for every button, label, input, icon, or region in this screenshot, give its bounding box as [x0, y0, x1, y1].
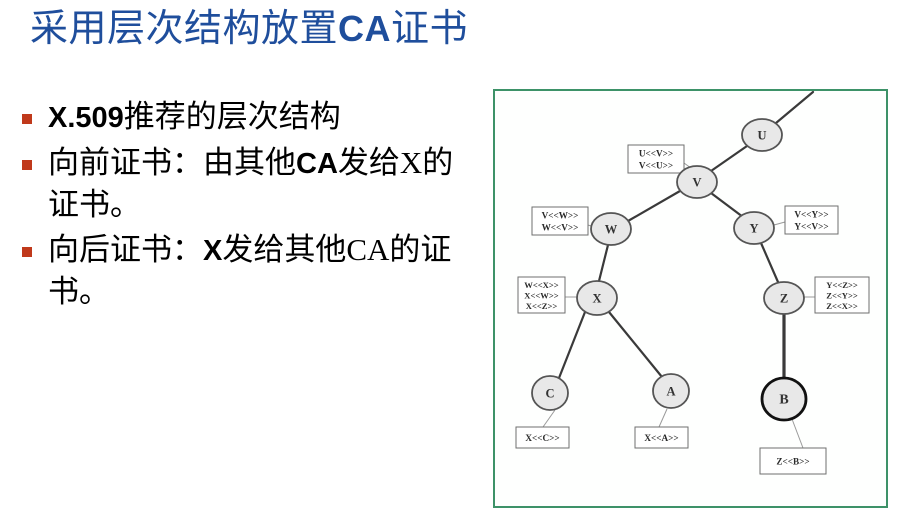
- page-title-part-2: 证书: [391, 8, 468, 50]
- diagram-node-c: C: [532, 376, 568, 410]
- bullet-square-icon: [22, 160, 32, 170]
- label-w: V<<W>>W<<V>>: [532, 207, 588, 235]
- label-box-line: Z<<Y>>: [826, 291, 858, 301]
- diagram-edge: [559, 312, 585, 378]
- label-box-line: W<<X>>: [524, 280, 558, 290]
- bullet-square-icon: [22, 247, 32, 257]
- list-item-text: 推荐的层次结构: [124, 99, 341, 134]
- certificate-hierarchy-diagram: U<<V>>V<<U>>V<<W>>W<<V>>V<<Y>>Y<<V>>W<<X…: [495, 91, 886, 506]
- label-box-line: U<<V>>: [639, 149, 673, 159]
- diagram-edge: [711, 193, 743, 217]
- diagram-edge: [761, 243, 778, 282]
- list-item: 向后证书：X发给其他CA的证书。: [14, 229, 484, 312]
- page-title: 采用层次结构放置CA证书: [30, 6, 500, 54]
- list-item-text-pre: 向前证书：由其他: [48, 145, 296, 180]
- node-label: Y: [749, 222, 758, 236]
- label-y: V<<Y>>Y<<V>>: [785, 206, 838, 234]
- node-label: Z: [780, 292, 788, 306]
- list-item-label: X.509推荐的层次结构: [48, 96, 341, 138]
- diagram-edge: [609, 312, 662, 377]
- leader-line: [543, 410, 555, 427]
- label-box-line: Z<<B>>: [776, 457, 809, 467]
- diagram-node-w: W: [591, 213, 631, 245]
- page-title-part-1: 采用层次结构放置: [30, 8, 338, 50]
- label-box-line: X<<A>>: [644, 433, 678, 443]
- node-label: C: [545, 387, 554, 401]
- leader-line: [659, 409, 667, 427]
- node-label: B: [779, 393, 788, 408]
- diagram-edge: [711, 146, 747, 171]
- diagram-node-u: U: [742, 119, 782, 151]
- list-item: 向前证书：由其他CA发给X的证书。: [14, 142, 484, 225]
- list-item-latin: X: [203, 235, 222, 267]
- node-label: A: [666, 385, 675, 399]
- label-v: U<<V>>V<<U>>: [628, 145, 684, 173]
- label-box-line: X<<Z>>: [526, 301, 558, 311]
- diagram-edge: [776, 92, 813, 123]
- label-box-line: X<<W>>: [524, 291, 558, 301]
- label-x: W<<X>>X<<W>>X<<Z>>: [518, 277, 565, 313]
- node-label: U: [757, 129, 766, 143]
- diagram-node-v: V: [677, 166, 717, 198]
- node-label: W: [605, 223, 618, 237]
- diagram-node-x: X: [577, 281, 617, 315]
- list-item: X.509推荐的层次结构: [14, 96, 484, 138]
- list-item-text-pre: 向后证书：: [48, 232, 203, 267]
- diagram-edge: [628, 191, 680, 221]
- label-box-line: V<<Y>>: [794, 210, 828, 220]
- list-item-label: 向前证书：由其他CA发给X的证书。: [48, 142, 484, 225]
- label-b: Z<<B>>: [760, 448, 826, 474]
- node-label: V: [692, 176, 701, 190]
- list-item-latin: X.509: [48, 102, 124, 134]
- node-label: X: [592, 292, 601, 306]
- diagram-node-a: A: [653, 374, 689, 408]
- label-box-line: Z<<X>>: [826, 301, 858, 311]
- diagram-edge: [599, 245, 608, 281]
- list-item-latin: CA: [296, 148, 338, 180]
- label-box-line: Y<<Z>>: [826, 280, 858, 290]
- label-c: X<<C>>: [516, 427, 569, 448]
- diagram-node-y: Y: [734, 212, 774, 244]
- label-box-line: X<<C>>: [525, 433, 559, 443]
- list-item-label: 向后证书：X发给其他CA的证书。: [48, 229, 484, 312]
- label-box-line: V<<W>>: [542, 211, 579, 221]
- bullet-list: X.509推荐的层次结构 向前证书：由其他CA发给X的证书。 向后证书：X发给其…: [14, 96, 484, 317]
- label-box-line: V<<U>>: [639, 161, 673, 171]
- leader-line: [774, 222, 785, 225]
- label-box-line: Y<<V>>: [794, 222, 828, 232]
- label-a: X<<A>>: [635, 427, 688, 448]
- diagram-node-z: Z: [764, 282, 804, 314]
- diagram-node-b: B: [762, 378, 806, 420]
- label-z: Y<<Z>>Z<<Y>>Z<<X>>: [815, 277, 869, 313]
- page-title-latin: CA: [338, 8, 391, 49]
- leader-line: [792, 419, 803, 448]
- bullet-square-icon: [22, 114, 32, 124]
- label-box-line: W<<V>>: [542, 223, 579, 233]
- slide-canvas: 采用层次结构放置CA证书 X.509推荐的层次结构 向前证书：由其他CA发给X的…: [0, 0, 909, 521]
